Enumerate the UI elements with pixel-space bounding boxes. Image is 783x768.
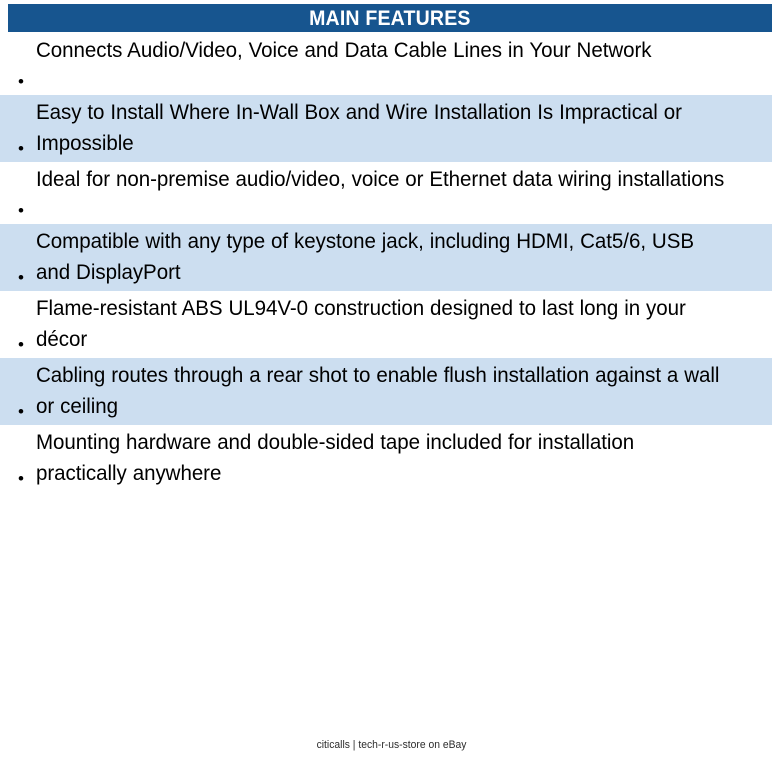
list-item: • Cabling routes through a rear shot to …: [0, 358, 772, 425]
list-item: • Easy to Install Where In-Wall Box and …: [0, 95, 772, 162]
list-item: • Mounting hardware and double-sided tap…: [0, 425, 772, 492]
main-features-header: MAIN FEATURES: [8, 4, 772, 32]
seller-credit: citicalls | tech-r-us-store on eBay: [23, 739, 759, 751]
list-item: • Connects Audio/Video, Voice and Data C…: [0, 33, 772, 95]
list-item: • Ideal for non-premise audio/video, voi…: [0, 162, 772, 224]
bullet-icon: •: [17, 78, 25, 86]
list-item: • Compatible with any type of keystone j…: [0, 224, 772, 291]
bullet-icon: •: [17, 207, 25, 215]
page-title: MAIN FEATURES: [309, 8, 471, 29]
bullet-icon: •: [17, 274, 25, 282]
bullet-icon: •: [17, 475, 25, 483]
list-item: • Flame-resistant ABS UL94V-0 constructi…: [0, 291, 772, 358]
list-item-text: Ideal for non-premise audio/video, voice…: [36, 164, 729, 195]
bullet-icon: •: [17, 341, 25, 349]
list-item-text: Compatible with any type of keystone jac…: [36, 226, 729, 288]
bullet-icon: •: [17, 408, 25, 416]
list-item-text: Easy to Install Where In-Wall Box and Wi…: [36, 97, 729, 159]
list-item-text: Flame-resistant ABS UL94V-0 construction…: [36, 293, 729, 355]
features-list: • Connects Audio/Video, Voice and Data C…: [0, 33, 783, 492]
bullet-icon: •: [17, 145, 25, 153]
list-item-text: Connects Audio/Video, Voice and Data Cab…: [36, 35, 729, 66]
list-item-text: Cabling routes through a rear shot to en…: [36, 360, 729, 422]
list-item-text: Mounting hardware and double-sided tape …: [36, 427, 729, 489]
